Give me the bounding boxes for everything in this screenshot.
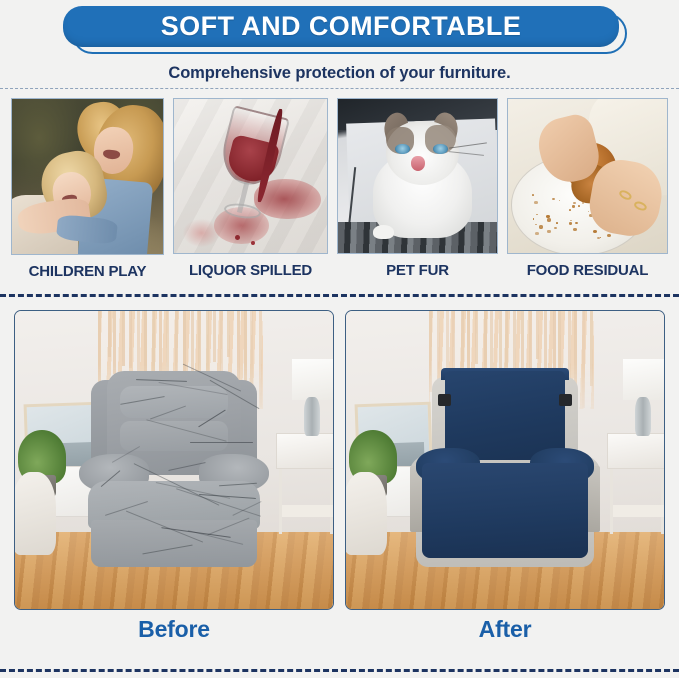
before-scene-photo — [14, 310, 334, 610]
divider-middle — [0, 294, 679, 297]
divider-bottom — [0, 669, 679, 672]
feature-strip: CHILDREN PLAY LIQUOR SPILLED — [0, 98, 679, 280]
after-scene-photo — [345, 310, 665, 610]
navy-slipcover-back — [445, 371, 566, 460]
header-banner: SOFT AND COMFORTABLE — [0, 2, 679, 58]
panel-label-before: Before — [14, 616, 334, 643]
banner-title: SOFT AND COMFORTABLE — [161, 11, 521, 42]
feature-label-food-residual: FOOD RESIDUAL — [507, 262, 668, 279]
feature-item-children-play: CHILDREN PLAY — [11, 98, 164, 280]
food-residual-photo — [507, 98, 668, 254]
liquor-spilled-photo — [173, 98, 328, 254]
header-subtitle: Comprehensive protection of your furnitu… — [0, 64, 679, 83]
children-play-photo — [11, 98, 164, 255]
navy-slipcover-seat — [422, 463, 587, 558]
panel-before: Before — [14, 310, 334, 643]
before-after-comparison: Before — [0, 310, 679, 643]
divider-top — [0, 88, 679, 89]
feature-label-children-play: CHILDREN PLAY — [11, 263, 164, 280]
feature-label-liquor-spilled: LIQUOR SPILLED — [173, 262, 328, 279]
panel-after: After — [345, 310, 665, 643]
panel-label-after: After — [345, 616, 665, 643]
feature-item-liquor-spilled: LIQUOR SPILLED — [173, 98, 328, 280]
feature-label-pet-fur: PET FUR — [337, 262, 498, 279]
banner-pill: SOFT AND COMFORTABLE — [63, 6, 619, 47]
feature-item-pet-fur: PET FUR — [337, 98, 498, 280]
pet-fur-photo — [337, 98, 498, 254]
feature-item-food-residual: FOOD RESIDUAL — [507, 98, 668, 280]
